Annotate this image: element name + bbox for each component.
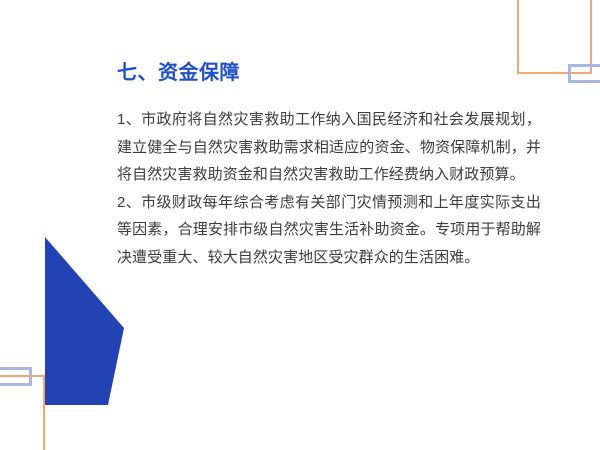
body-text-block: 1、市政府将自然灾害救助工作纳入国民经济和社会发展规划，建立健全与自然灾害救助需… bbox=[117, 106, 541, 271]
decor-lavender-bracket-bottom-left bbox=[0, 367, 32, 386]
decor-orange-bracket-top-right bbox=[517, 0, 592, 74]
body-paragraph-2: 2、市级财政每年综合考虑有关部门灾情预测和上年度实际支出等因素，合理安排市级自然… bbox=[117, 189, 541, 272]
presentation-slide: 七、资金保障 1、市政府将自然灾害救助工作纳入国民经济和社会发展规划，建立健全与… bbox=[0, 0, 600, 450]
blue-pentagon-arrow-shape bbox=[40, 230, 124, 412]
page-title: 七、资金保障 bbox=[117, 56, 240, 85]
decor-lavender-bracket-top-right bbox=[568, 64, 600, 83]
decor-orange-bracket-bottom-left bbox=[0, 375, 45, 450]
body-paragraph-1: 1、市政府将自然灾害救助工作纳入国民经济和社会发展规划，建立健全与自然灾害救助需… bbox=[117, 106, 541, 189]
